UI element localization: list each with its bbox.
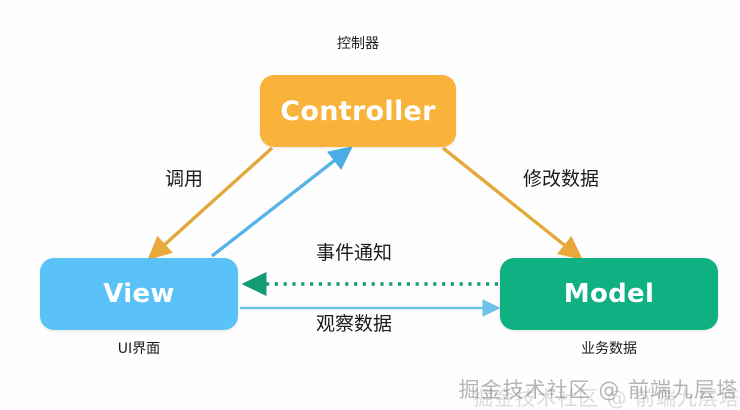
edge-label-observe-data: 观察数据	[316, 309, 392, 336]
node-view[interactable]: View	[40, 258, 238, 330]
node-model[interactable]: Model	[500, 258, 718, 330]
caption-controller: 控制器	[260, 33, 456, 53]
node-controller[interactable]: Controller	[260, 75, 456, 147]
edge-label-invoke: 调用	[165, 164, 203, 191]
mvc-diagram-canvas: 控制器 Controller View UI界面 Model 业务数据 调用 修…	[0, 0, 740, 410]
edge-label-modify-data: 修改数据	[523, 164, 599, 191]
caption-view: UI界面	[40, 338, 238, 358]
node-model-label: Model	[564, 279, 654, 309]
node-view-label: View	[103, 279, 174, 309]
caption-model: 业务数据	[500, 338, 718, 358]
watermark: 掘金技术社区 @ 前端九层塔	[438, 374, 738, 404]
node-controller-label: Controller	[280, 96, 436, 127]
edge-label-event-notify: 事件通知	[316, 238, 392, 265]
